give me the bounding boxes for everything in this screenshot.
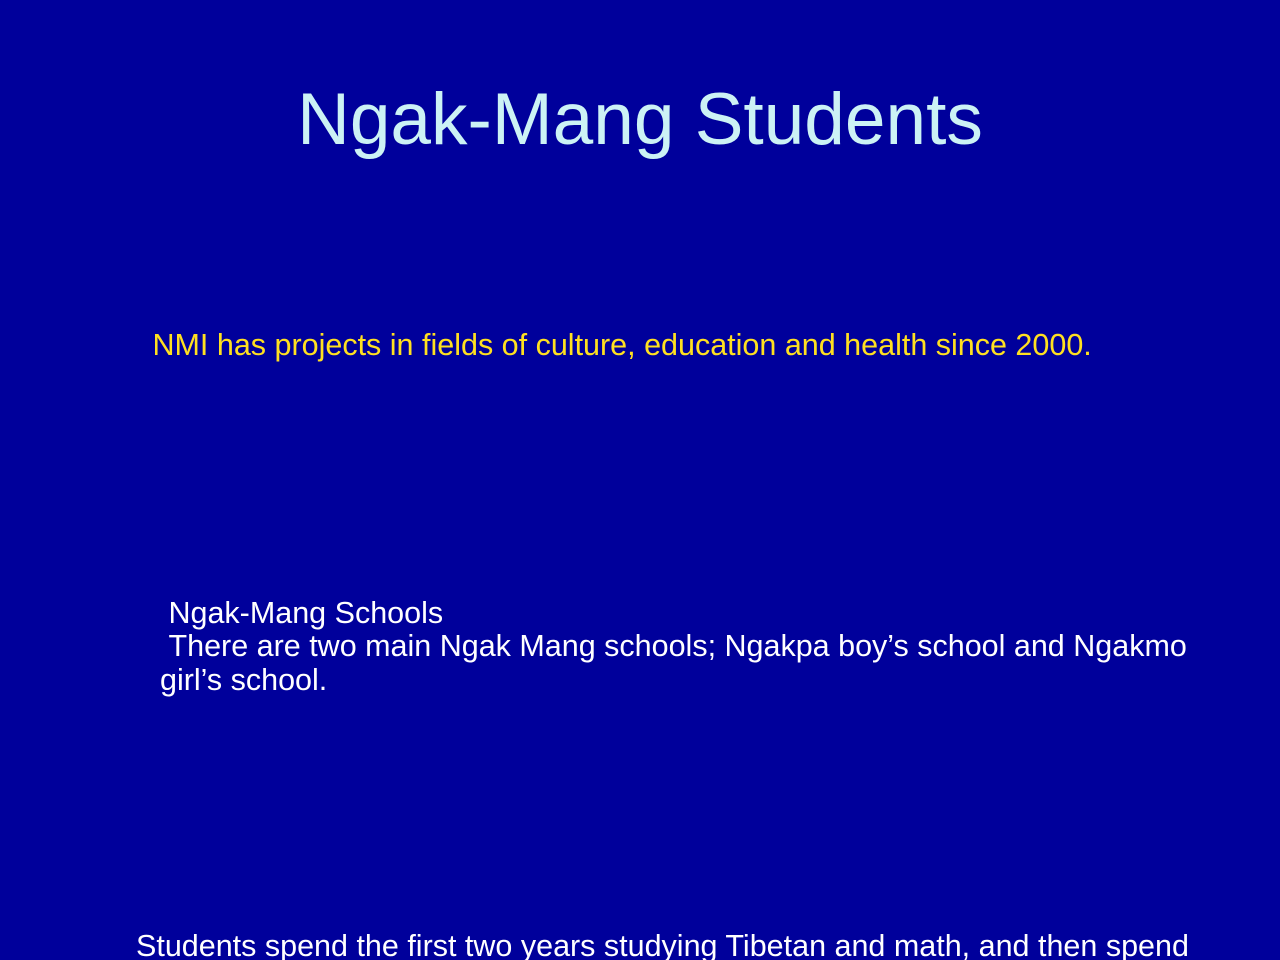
slide-body: NMI has projects in fields of culture, e… (136, 228, 1216, 960)
paragraph-spacer (136, 798, 1216, 830)
body-paragraph-curriculum: Students spend the first two years study… (136, 930, 1206, 960)
presentation-slide: Ngak-Mang Students NMI has projects in f… (0, 0, 1280, 960)
page-title: Ngak-Mang Students (0, 78, 1280, 162)
body-paragraph-schools: Ngak-Mang Schools There are two main Nga… (136, 597, 1216, 698)
body-paragraph-intro: NMI has projects in fields of culture, e… (136, 329, 1188, 363)
paragraph-spacer (136, 463, 1216, 497)
